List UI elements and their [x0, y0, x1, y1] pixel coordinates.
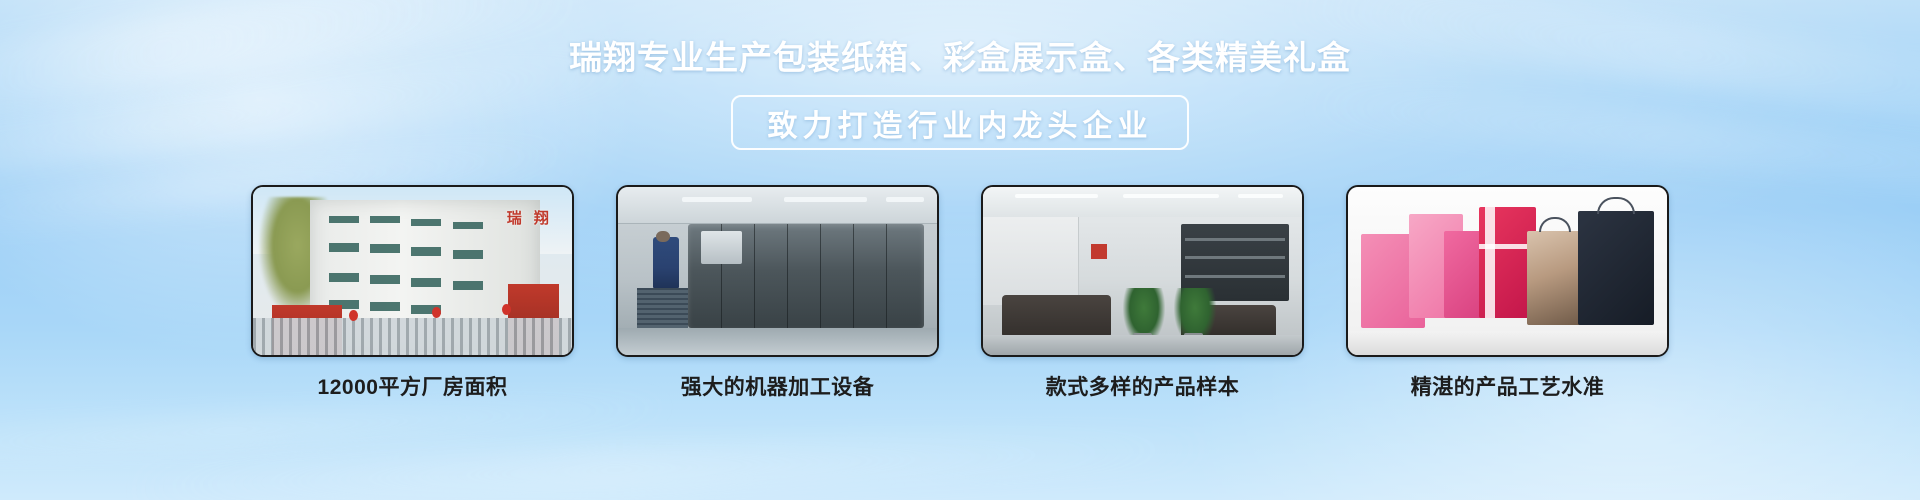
- gift-boxes-photo[interactable]: [1346, 185, 1669, 357]
- building-sign-text: 瑞 翔: [507, 207, 553, 228]
- printing-machine-photo[interactable]: [616, 185, 939, 357]
- banner-headline: 瑞翔专业生产包装纸箱、彩盒展示盒、各类精美礼盒: [0, 38, 1920, 78]
- feature-card[interactable]: 瑞 翔 12000平方厂房面积: [251, 185, 574, 401]
- feature-card-caption: 款式多样的产品样本: [981, 371, 1304, 401]
- feature-card-caption: 精湛的产品工艺水准: [1346, 371, 1669, 401]
- feature-card[interactable]: 强大的机器加工设备: [616, 185, 939, 401]
- feature-card[interactable]: 款式多样的产品样本: [981, 185, 1304, 401]
- light-streak: [119, 425, 1220, 500]
- subtitle-box: 致力打造行业内龙头企业: [731, 95, 1189, 150]
- feature-card-caption: 强大的机器加工设备: [616, 371, 939, 401]
- feature-card-list: 瑞 翔 12000平方厂房面积: [0, 185, 1920, 401]
- product-showroom-photo[interactable]: [981, 185, 1304, 357]
- promo-banner: 瑞翔专业生产包装纸箱、彩盒展示盒、各类精美礼盒 致力打造行业内龙头企业: [0, 0, 1920, 500]
- factory-building-photo[interactable]: 瑞 翔: [251, 185, 574, 357]
- feature-card[interactable]: 精湛的产品工艺水准: [1346, 185, 1669, 401]
- banner-subtitle: 致力打造行业内龙头企业: [768, 101, 1153, 145]
- feature-card-caption: 12000平方厂房面积: [251, 371, 574, 401]
